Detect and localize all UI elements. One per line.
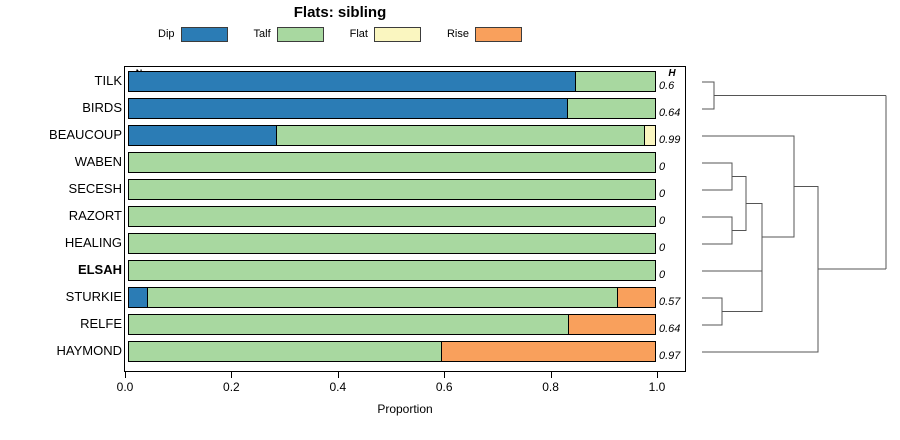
x-axis: 0.00.20.40.60.81.0: [124, 372, 686, 402]
stacked-bar[interactable]: [128, 125, 656, 146]
x-tick: [551, 372, 552, 378]
x-tick-label: 0.8: [531, 380, 571, 394]
bar-segment-flat[interactable]: [645, 126, 655, 145]
category-label: BIRDS: [0, 100, 122, 116]
dendro-join-haymond: [702, 187, 818, 353]
h-value: 0.57: [659, 296, 687, 308]
bar-segment-talf[interactable]: [129, 153, 655, 172]
legend-item-flat[interactable]: Flat: [350, 27, 421, 42]
category-label: BEAUCOUP: [0, 127, 122, 143]
chart-title: Flats: sibling: [0, 4, 680, 21]
h-value: 0: [659, 188, 687, 200]
h-value: 0.64: [659, 323, 687, 335]
x-tick-label: 0.6: [424, 380, 464, 394]
h-value: 0.64: [659, 107, 687, 119]
h-value: 0.99: [659, 134, 687, 146]
h-value: 0: [659, 215, 687, 227]
legend-swatch-flat: [374, 27, 421, 42]
x-tick-label: 0.4: [318, 380, 358, 394]
dendro-join-razort-healing: [702, 217, 732, 244]
bar-segment-talf[interactable]: [568, 99, 655, 118]
legend-label-flat: Flat: [350, 29, 368, 40]
legend-label-talf: Talf: [254, 29, 271, 40]
x-tick-label: 1.0: [637, 380, 677, 394]
bar-segment-rise[interactable]: [569, 315, 655, 334]
dendrogram-svg: [686, 60, 900, 380]
stacked-bar[interactable]: [128, 287, 656, 308]
dendro-join-beaucoup: [702, 136, 794, 237]
stacked-bar[interactable]: [128, 314, 656, 335]
legend: Dip Talf Flat Rise: [0, 27, 680, 42]
legend-swatch-talf: [277, 27, 324, 42]
h-value: 0.97: [659, 350, 687, 362]
category-label: RAZORT: [0, 208, 122, 224]
x-tick: [338, 372, 339, 378]
bar-segment-dip[interactable]: [129, 72, 576, 91]
bar-segment-dip[interactable]: [129, 126, 277, 145]
h-value: 0.6: [659, 80, 687, 92]
legend-label-dip: Dip: [158, 29, 175, 40]
stacked-bar[interactable]: [128, 152, 656, 173]
bar-segment-rise[interactable]: [442, 342, 655, 361]
dendro-join-waben-secesh: [702, 163, 732, 190]
category-label: HEALING: [0, 235, 122, 251]
bar-segment-dip[interactable]: [129, 288, 148, 307]
category-label: HAYMOND: [0, 343, 122, 359]
legend-swatch-rise: [475, 27, 522, 42]
bar-segment-rise[interactable]: [618, 288, 655, 307]
column-header-h: H: [660, 68, 684, 79]
category-label: TILK: [0, 73, 122, 89]
legend-item-rise[interactable]: Rise: [447, 27, 522, 42]
h-value: 0: [659, 242, 687, 254]
x-tick: [125, 372, 126, 378]
stacked-bar[interactable]: [128, 206, 656, 227]
category-label: ELSAH: [0, 262, 122, 278]
dendro-branch-sturkie-group: [722, 237, 762, 312]
x-tick: [657, 372, 658, 378]
stacked-bar[interactable]: [128, 98, 656, 119]
stacked-bar[interactable]: [128, 179, 656, 200]
h-value: 0: [659, 161, 687, 173]
bar-segment-talf[interactable]: [129, 261, 655, 280]
x-tick: [231, 372, 232, 378]
dendro-join-waben-group-razort-group: [732, 177, 746, 231]
stacked-bar[interactable]: [128, 233, 656, 254]
bar-segment-talf[interactable]: [148, 288, 618, 307]
x-axis-label: Proportion: [124, 402, 686, 416]
dendro-join-tilk-birds: [702, 82, 714, 109]
legend-item-talf[interactable]: Talf: [254, 27, 324, 42]
stacked-bar-chart-with-dendrogram: Flats: sibling Dip Talf Flat Rise N H TI…: [0, 0, 900, 440]
x-tick-label: 0.2: [211, 380, 251, 394]
category-label: RELFE: [0, 316, 122, 332]
bar-segment-dip[interactable]: [129, 99, 568, 118]
bar-segment-talf[interactable]: [129, 207, 655, 226]
bar-segment-talf[interactable]: [277, 126, 645, 145]
bar-segment-talf[interactable]: [576, 72, 655, 91]
bar-segment-talf[interactable]: [129, 342, 442, 361]
h-value: 0: [659, 269, 687, 281]
stacked-bar[interactable]: [128, 260, 656, 281]
stacked-bar[interactable]: [128, 341, 656, 362]
bar-segment-talf[interactable]: [129, 234, 655, 253]
stacked-bar[interactable]: [128, 71, 656, 92]
x-tick-label: 0.0: [105, 380, 145, 394]
category-label: WABEN: [0, 154, 122, 170]
category-label: STURKIE: [0, 289, 122, 305]
legend-swatch-dip: [181, 27, 228, 42]
x-tick: [444, 372, 445, 378]
legend-item-dip[interactable]: Dip: [158, 27, 228, 42]
bar-segment-talf[interactable]: [129, 180, 655, 199]
bar-segment-talf[interactable]: [129, 315, 569, 334]
dendrogram: [686, 60, 900, 380]
dendro-join-sturkie-relfe: [702, 298, 722, 325]
legend-label-rise: Rise: [447, 29, 469, 40]
category-label: SECESH: [0, 181, 122, 197]
